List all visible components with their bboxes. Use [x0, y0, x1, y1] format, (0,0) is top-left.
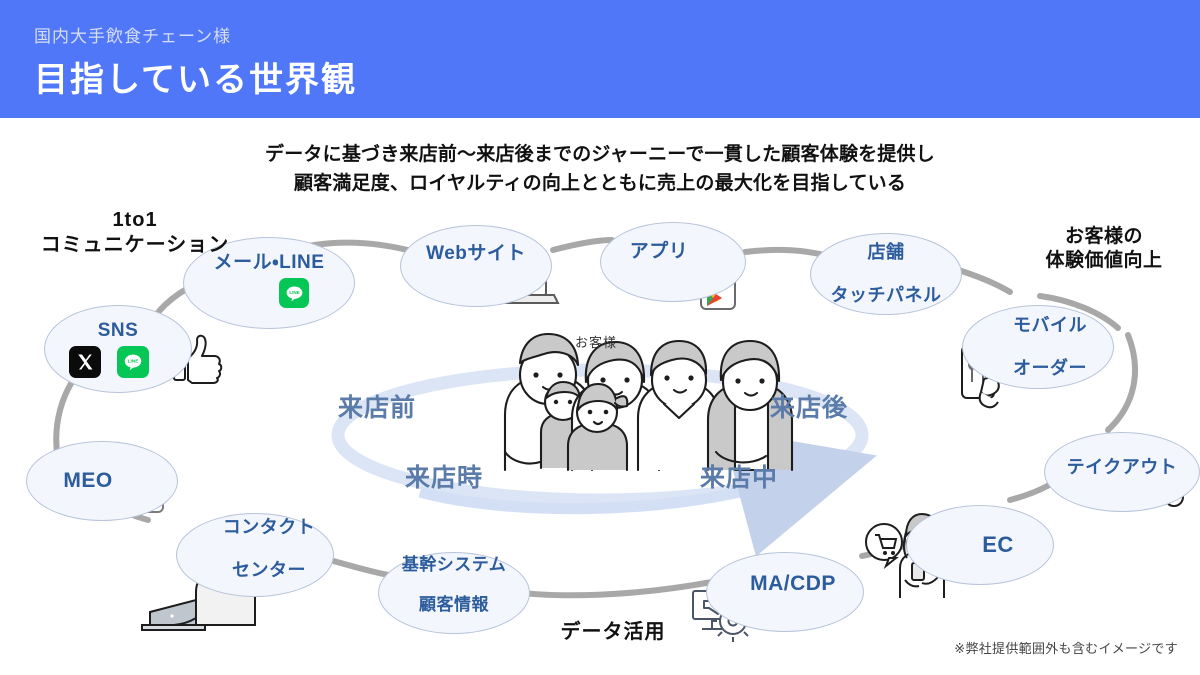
- stage-pre-visit: 来店前: [338, 388, 416, 424]
- cart-bubble-icon: [866, 524, 902, 566]
- bubble-app-label: アプリ: [630, 241, 689, 263]
- one-to-one-line-1: 1to1: [20, 208, 250, 233]
- svg-text:LINE: LINE: [128, 359, 139, 365]
- bubble-store-panel[interactable]: 店舗 タッチパネル: [810, 233, 962, 315]
- bubble-contact-center[interactable]: コンタクト センター: [176, 513, 334, 597]
- bubble-meo[interactable]: MEO: [26, 441, 178, 521]
- bubble-mobile-order-label: モバイル オーダー: [1013, 315, 1087, 379]
- bubble-takeout-label: テイクアウト: [1067, 457, 1178, 478]
- svg-text:LINE: LINE: [289, 290, 299, 295]
- bubble-ma-cdp-label: MA/CDP: [750, 572, 836, 597]
- bubble-app[interactable]: アプリ: [600, 222, 746, 302]
- x-icon: [69, 346, 101, 378]
- label-one-to-one: 1to1 コミュニケーション: [20, 208, 250, 258]
- stage-during-visit: 来店中: [700, 458, 778, 494]
- bubble-ma-cdp[interactable]: MA/CDP: [706, 552, 864, 632]
- stage-post-visit: 来店後: [770, 388, 848, 424]
- line-icon-sns: LINE: [117, 346, 149, 378]
- mobile-order-line-2: オーダー: [1013, 358, 1087, 379]
- label-customer-value: お客様の 体験価値向上: [1014, 225, 1194, 273]
- footnote: ※弊社提供範囲外も含むイメージです: [954, 638, 1178, 657]
- bubble-website-label: Webサイト: [426, 243, 526, 265]
- data-use-text: データ活用: [548, 620, 678, 645]
- bubble-sns-label: SNS: [98, 320, 139, 342]
- one-to-one-line-2: コミュニケーション: [20, 233, 250, 258]
- bubble-mobile-order[interactable]: モバイル オーダー: [962, 305, 1114, 389]
- bubble-core-system-label: 基幹システム 顧客情報: [402, 555, 507, 615]
- contact-center-line-2: センター: [223, 560, 316, 581]
- customer-label: お客様: [575, 332, 617, 351]
- customer-family-illustration: [505, 334, 792, 470]
- stage-arrival: 来店時: [405, 458, 483, 494]
- bubble-ec-label: EC: [982, 532, 1014, 558]
- store-panel-line-2: タッチパネル: [831, 285, 942, 306]
- store-panel-line-1: 店舗: [831, 242, 942, 263]
- customer-value-line-1: お客様の: [1014, 225, 1194, 249]
- customer-value-line-2: 体験価値向上: [1014, 249, 1194, 273]
- bubble-meo-label: MEO: [63, 469, 112, 494]
- core-system-line-1: 基幹システム: [402, 555, 507, 575]
- bubble-core-system[interactable]: 基幹システム 顧客情報: [378, 552, 530, 634]
- contact-center-line-1: コンタクト: [223, 517, 316, 538]
- bubble-website[interactable]: Webサイト: [400, 225, 552, 307]
- line-icon-mail: LINE: [279, 278, 309, 308]
- mobile-order-line-1: モバイル: [1013, 315, 1087, 336]
- label-data-use: データ活用: [548, 620, 678, 645]
- bubble-ec[interactable]: EC: [906, 505, 1054, 585]
- bubble-contact-center-label: コンタクト センター: [223, 517, 316, 581]
- bubble-takeout[interactable]: テイクアウト: [1044, 432, 1200, 512]
- core-system-line-2: 顧客情報: [402, 595, 507, 615]
- bubble-store-panel-label: 店舗 タッチパネル: [831, 242, 942, 306]
